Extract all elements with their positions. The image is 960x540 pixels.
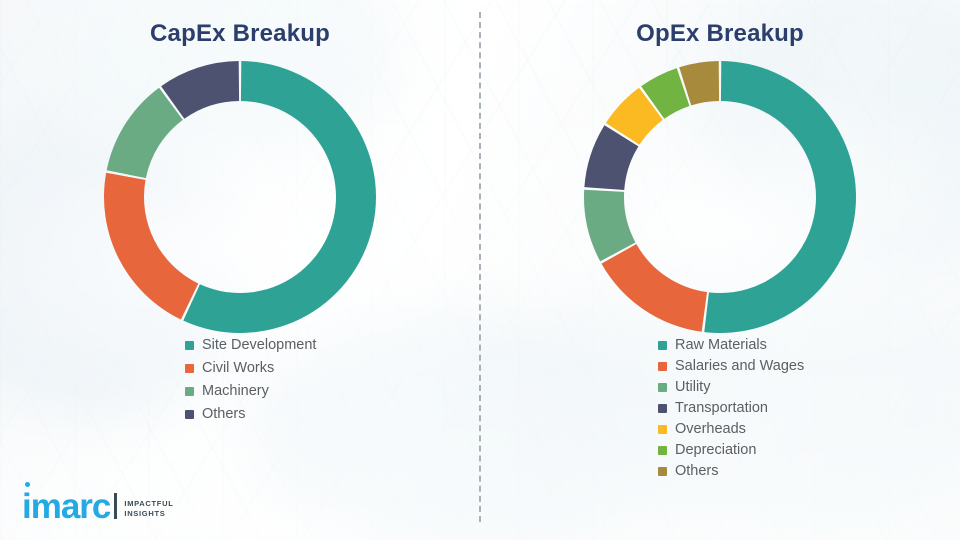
opex-legend-item[interactable]: Utility xyxy=(658,379,960,395)
legend-item-label: Depreciation xyxy=(675,442,756,458)
opex-legend: Raw MaterialsSalaries and WagesUtilityTr… xyxy=(480,337,960,484)
legend-swatch-icon xyxy=(658,446,667,455)
capex-slice-group xyxy=(104,61,376,333)
legend-item-label: Site Development xyxy=(202,337,316,353)
opex-legend-item[interactable]: Depreciation xyxy=(658,442,960,458)
opex-slice-salaries-and-wages[interactable] xyxy=(601,244,707,332)
legend-item-label: Salaries and Wages xyxy=(675,358,804,374)
capex-legend-item[interactable]: Machinery xyxy=(185,383,480,399)
opex-legend-item[interactable]: Salaries and Wages xyxy=(658,358,960,374)
capex-donut-svg xyxy=(100,57,380,337)
legend-swatch-icon xyxy=(658,341,667,350)
legend-swatch-icon xyxy=(658,362,667,371)
legend-item-label: Utility xyxy=(675,379,710,395)
legend-swatch-icon xyxy=(658,404,667,413)
capex-legend-item[interactable]: Site Development xyxy=(185,337,480,353)
legend-swatch-icon xyxy=(185,364,194,373)
legend-swatch-icon xyxy=(658,467,667,476)
capex-legend: Site DevelopmentCivil WorksMachineryOthe… xyxy=(0,337,480,429)
legend-item-label: Overheads xyxy=(675,421,746,437)
capex-slice-machinery[interactable] xyxy=(107,88,183,178)
legend-item-label: Others xyxy=(675,463,719,479)
legend-swatch-icon xyxy=(185,387,194,396)
legend-swatch-icon xyxy=(185,341,194,350)
opex-slice-group xyxy=(584,61,856,333)
tagline-line-2: INSIGHTS xyxy=(124,509,173,519)
capex-panel: CapEx Breakup Site DevelopmentCivil Work… xyxy=(0,0,480,540)
opex-donut-chart xyxy=(580,57,860,337)
opex-legend-item[interactable]: Raw Materials xyxy=(658,337,960,353)
imarc-dot-icon xyxy=(25,482,30,487)
capex-donut-chart xyxy=(100,57,380,337)
imarc-tagline: IMPACTFUL INSIGHTS xyxy=(124,499,173,519)
legend-swatch-icon xyxy=(658,425,667,434)
legend-swatch-icon xyxy=(185,410,194,419)
slide-canvas: CapEx Breakup Site DevelopmentCivil Work… xyxy=(0,0,960,540)
opex-slice-raw-materials[interactable] xyxy=(704,61,856,333)
capex-slice-civil-works[interactable] xyxy=(104,173,198,320)
legend-item-label: Machinery xyxy=(202,383,269,399)
opex-legend-item[interactable]: Overheads xyxy=(658,421,960,437)
opex-legend-item[interactable]: Others xyxy=(658,463,960,479)
opex-legend-item[interactable]: Transportation xyxy=(658,400,960,416)
legend-swatch-icon xyxy=(658,383,667,392)
imarc-logo: imarc IMPACTFUL INSIGHTS xyxy=(22,491,173,523)
legend-item-label: Civil Works xyxy=(202,360,274,376)
legend-item-label: Raw Materials xyxy=(675,337,767,353)
opex-donut-svg xyxy=(580,57,860,337)
imarc-wordmark-text: imarc xyxy=(22,487,110,526)
imarc-wordmark: imarc xyxy=(22,491,110,523)
legend-item-label: Others xyxy=(202,406,246,422)
tagline-line-1: IMPACTFUL xyxy=(124,499,173,509)
opex-panel: OpEx Breakup Raw MaterialsSalaries and W… xyxy=(480,0,960,540)
logo-separator-bar xyxy=(114,493,117,519)
legend-item-label: Transportation xyxy=(675,400,768,416)
opex-chart-title: OpEx Breakup xyxy=(480,20,960,48)
capex-legend-item[interactable]: Others xyxy=(185,406,480,422)
capex-legend-item[interactable]: Civil Works xyxy=(185,360,480,376)
capex-chart-title: CapEx Breakup xyxy=(0,20,480,48)
